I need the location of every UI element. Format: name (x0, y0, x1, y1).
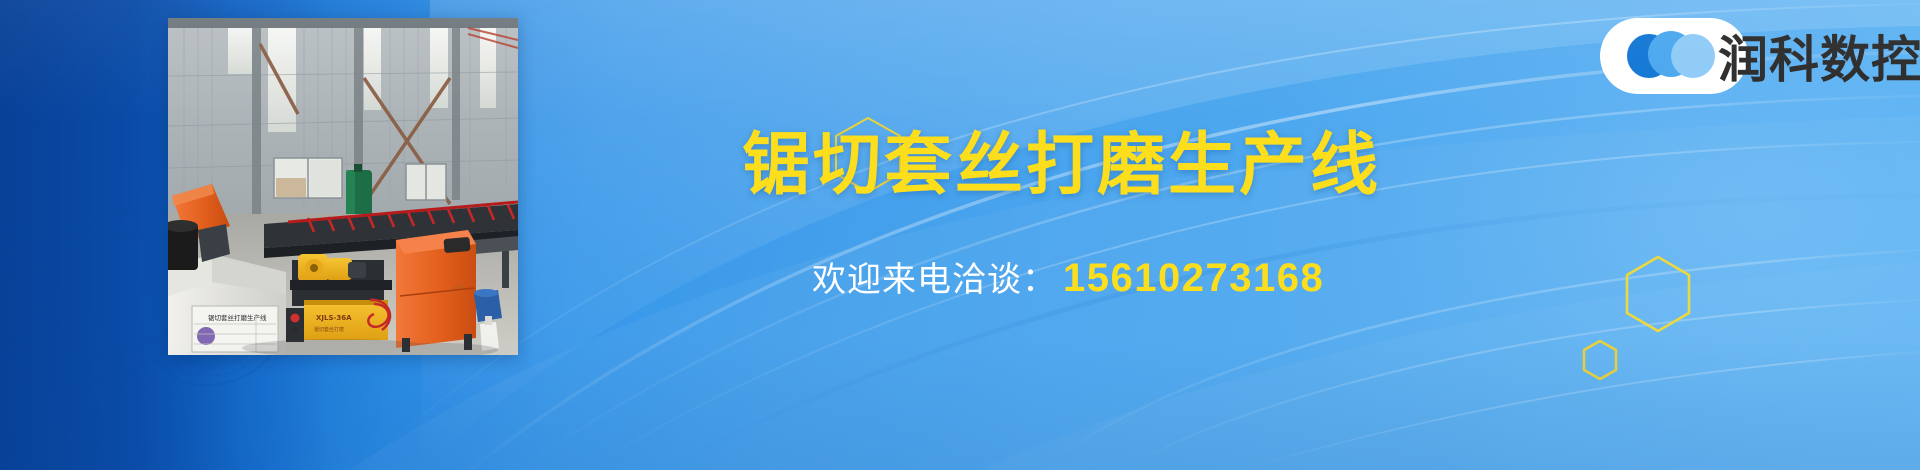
promo-banner: XJLS-36A 锯切套丝打磨 锯切套丝打磨生产线 (0, 0, 1920, 470)
svg-text:XJLS-36A: XJLS-36A (316, 314, 352, 322)
logo-wordmark: 润科数控 (1718, 18, 1920, 94)
contact-label: 欢迎来电洽谈： (812, 261, 1057, 299)
contact-phone-number[interactable]: 15610273168 (1063, 256, 1324, 300)
page-title: 锯切套丝打磨生产线 (742, 131, 1381, 199)
svg-text:锯切套丝打磨生产线: 锯切套丝打磨生产线 (208, 313, 267, 322)
svg-text:锯切套丝打磨: 锯切套丝打磨 (314, 326, 344, 333)
product-photo: XJLS-36A 锯切套丝打磨 锯切套丝打磨生产线 (168, 18, 518, 355)
contact-line: 欢迎来电洽谈：15610273168 (812, 258, 1324, 298)
brand-logo[interactable]: 润科数控 (1594, 14, 1914, 98)
overlapping-circles-mark-icon (1619, 30, 1729, 82)
